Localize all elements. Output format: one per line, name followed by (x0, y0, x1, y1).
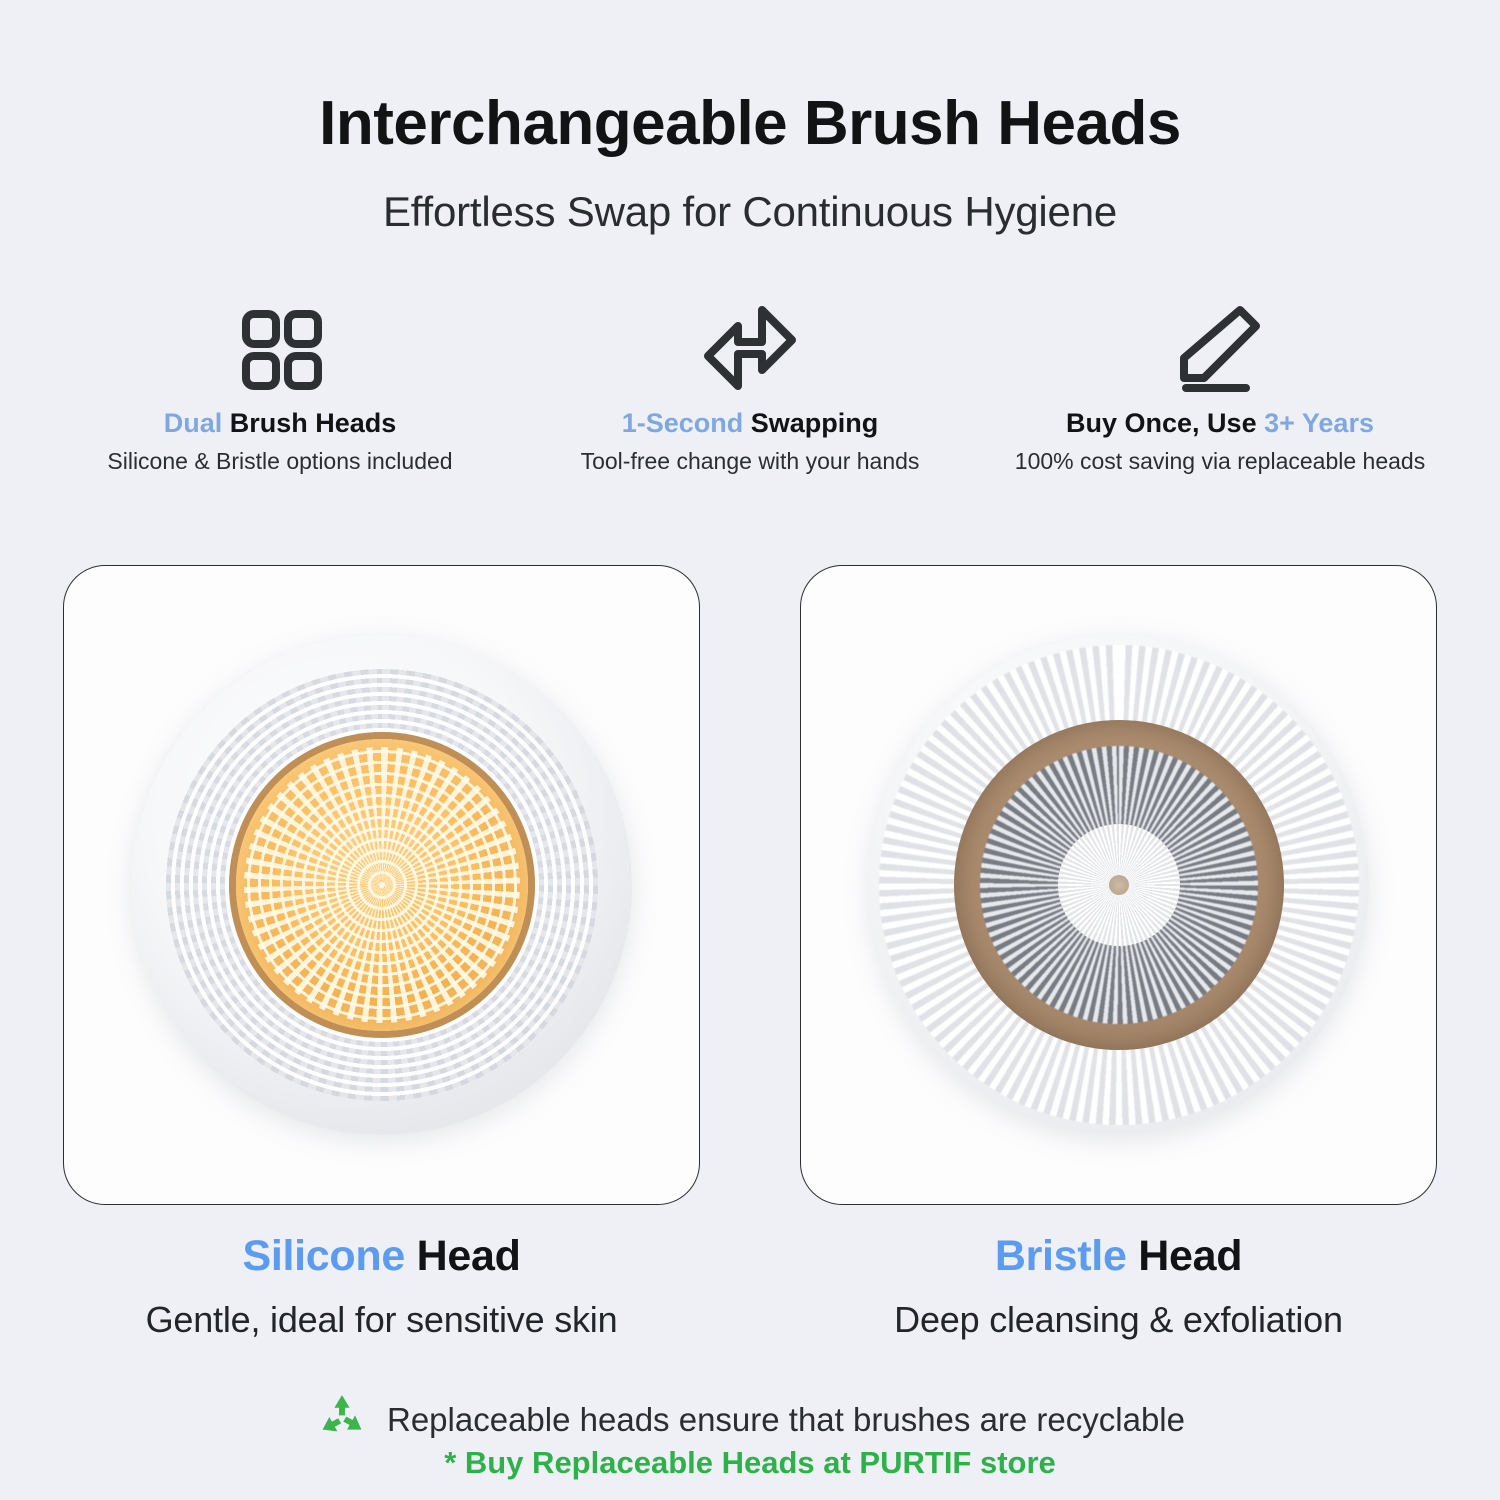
feature-heading: Dual Brush Heads (164, 408, 397, 439)
card-caption-row: Silicone Head Gentle, ideal for sensitiv… (63, 1232, 1437, 1341)
caption-heading-rest: Head (1127, 1232, 1243, 1280)
feature-heading-prefix: Buy Once, Use (1066, 408, 1264, 438)
silicone-brush-head-photo (132, 635, 632, 1135)
swap-arrows-icon (700, 300, 800, 396)
caption-subtext: Gentle, ideal for sensitive skin (63, 1299, 700, 1341)
bristle-center-hub (1109, 875, 1129, 895)
feature-heading: 1-Second Swapping (622, 408, 879, 439)
feature-subtext: Silicone & Bristle options included (107, 448, 452, 475)
recycle-icon (315, 1390, 369, 1449)
feature-heading: Buy Once, Use 3+ Years (1066, 408, 1374, 439)
bristle-head-card[interactable] (800, 565, 1437, 1205)
caption-heading-rest: Head (405, 1232, 521, 1280)
feature-row: Dual Brush Heads Silicone & Bristle opti… (60, 300, 1440, 490)
page-subtitle: Effortless Swap for Continuous Hygiene (0, 188, 1500, 236)
caption-subtext: Deep cleansing & exfoliation (800, 1299, 1437, 1341)
caption-heading-highlight: Silicone (242, 1232, 404, 1280)
feature-buy-once-use-years: Buy Once, Use 3+ Years 100% cost saving … (1000, 300, 1440, 475)
caption-heading: Silicone Head (63, 1232, 700, 1281)
feature-heading-highlight: 3+ Years (1264, 408, 1374, 438)
silicone-head-card[interactable] (63, 565, 700, 1205)
silicone-head-caption: Silicone Head Gentle, ideal for sensitiv… (63, 1232, 700, 1341)
infographic-page: Interchangeable Brush Heads Effortless S… (0, 0, 1500, 1500)
feature-one-second-swapping: 1-Second Swapping Tool-free change with … (530, 300, 970, 475)
footer-note-text: Replaceable heads ensure that brushes ar… (387, 1401, 1185, 1439)
caption-heading: Bristle Head (800, 1232, 1437, 1281)
pencil-underline-icon (1170, 300, 1270, 396)
silicone-orange-core (236, 739, 528, 1031)
bristle-head-caption: Bristle Head Deep cleansing & exfoliatio… (800, 1232, 1437, 1341)
feature-subtext: Tool-free change with your hands (581, 448, 920, 475)
feature-heading-rest: Brush Heads (222, 408, 396, 438)
page-title: Interchangeable Brush Heads (0, 88, 1500, 159)
feature-heading-highlight: 1-Second (622, 408, 744, 438)
feature-heading-rest: Swapping (743, 408, 878, 438)
product-card-row (63, 565, 1437, 1205)
caption-heading-highlight: Bristle (995, 1232, 1127, 1280)
bristle-brush-head-photo (869, 635, 1369, 1135)
footer-note: Replaceable heads ensure that brushes ar… (0, 1390, 1500, 1449)
four-squares-grid-icon (232, 300, 328, 396)
feature-dual-brush-heads: Dual Brush Heads Silicone & Bristle opti… (60, 300, 500, 475)
feature-heading-highlight: Dual (164, 408, 223, 438)
feature-subtext: 100% cost saving via replaceable heads (1015, 448, 1425, 475)
footer-cta-text: * Buy Replaceable Heads at PURTIF store (0, 1445, 1500, 1481)
